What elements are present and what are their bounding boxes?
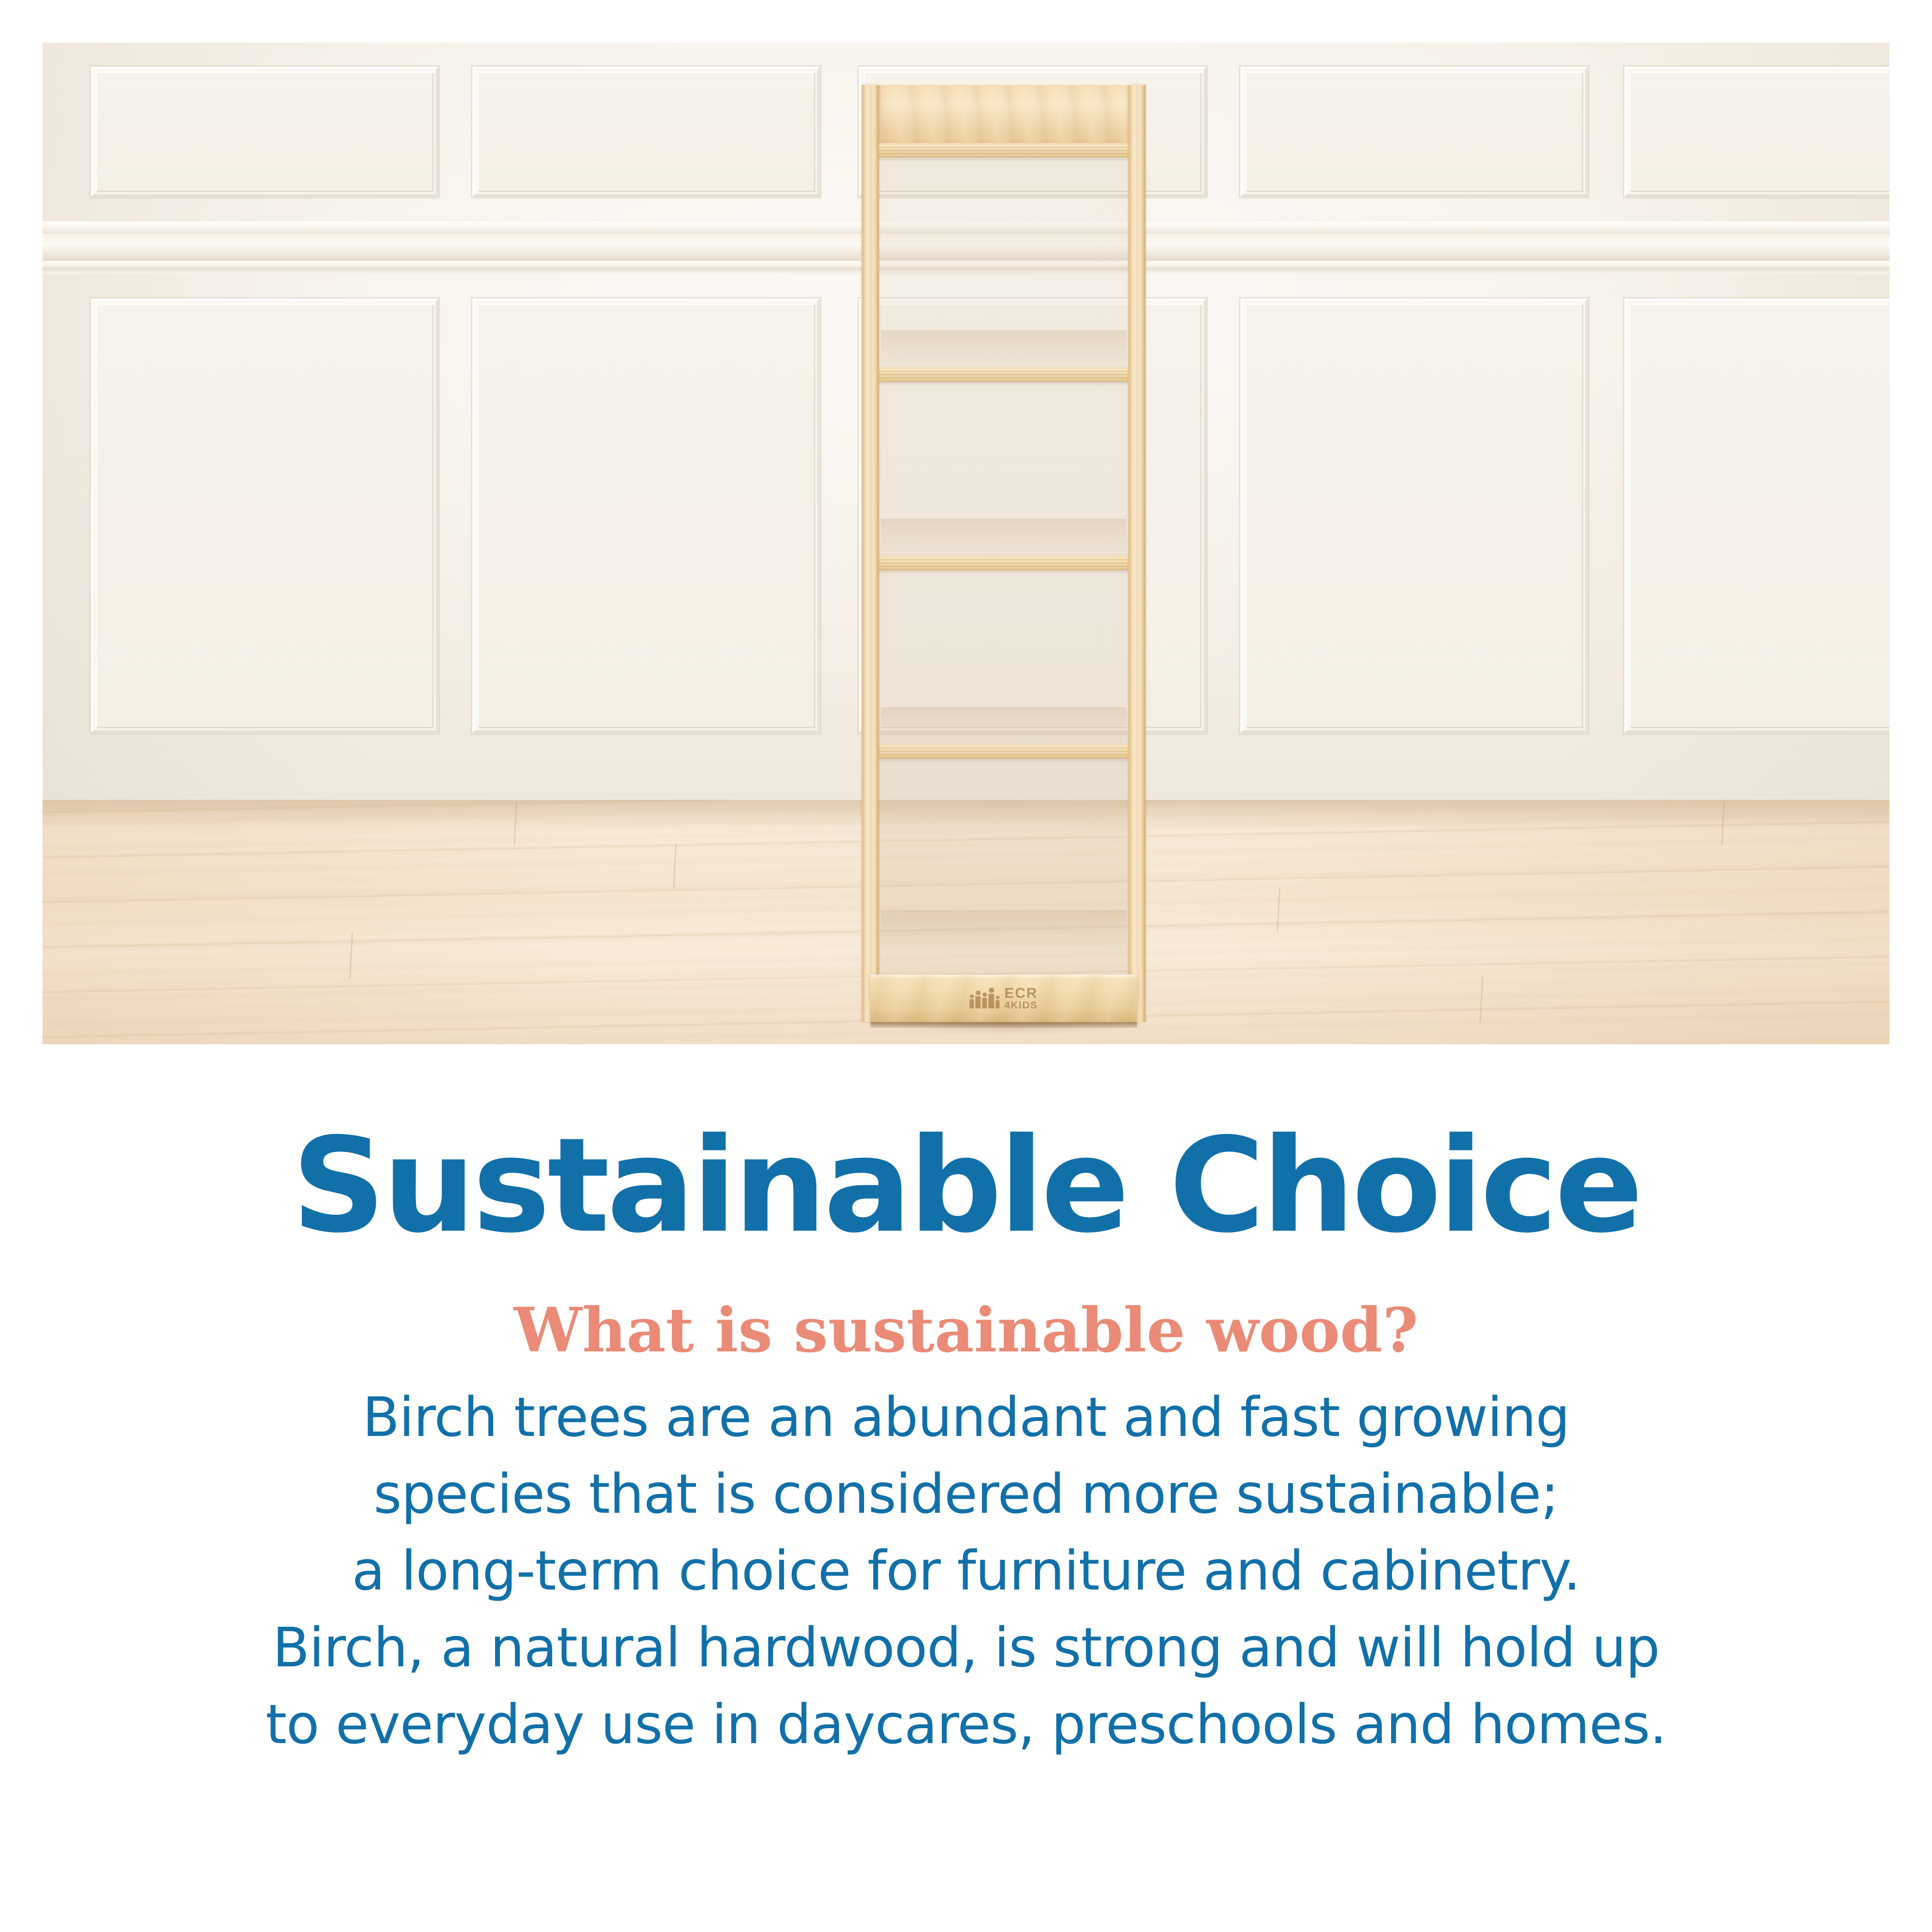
page-title: Sustainable Choice <box>0 1058 1932 1251</box>
shelf-side-panel-right <box>1128 85 1146 1022</box>
wood-grain-texture <box>1128 85 1146 1022</box>
body-line: a long-term choice for furniture and cab… <box>0 1533 1932 1610</box>
wall-panel <box>1245 303 1583 728</box>
shelf-board <box>870 555 1137 570</box>
shelf-surface <box>881 330 1126 368</box>
body-paragraph: Birch trees are an abundant and fast gro… <box>0 1362 1932 1763</box>
wall-panel <box>96 71 434 192</box>
body-line: species that is considered more sustaina… <box>0 1456 1932 1533</box>
shelf-board <box>870 143 1137 157</box>
ecr4kids-logo: ECR 4KIDS <box>969 987 1037 1010</box>
base-shadow-line <box>870 1022 1137 1028</box>
wall-panel <box>1245 71 1583 192</box>
logo-kids-text: 4KIDS <box>1004 1000 1037 1010</box>
text-content-block: Sustainable Choice What is sustainable w… <box>0 1058 1932 1763</box>
section-subheading: What is sustainable wood? <box>0 1251 1932 1362</box>
wall-panel <box>1629 303 1889 728</box>
logo-wordmark: ECR 4KIDS <box>1004 987 1037 1010</box>
body-line: Birch trees are an abundant and fast gro… <box>0 1379 1932 1456</box>
body-line: Birch, a natural hardwood, is strong and… <box>0 1610 1932 1687</box>
shelf-board <box>870 367 1137 382</box>
shelf-surface <box>881 707 1126 744</box>
shelf-surface <box>881 519 1126 556</box>
four-children-icon <box>969 988 999 1009</box>
shelf-board <box>870 744 1137 758</box>
wall-panel <box>1629 71 1889 192</box>
birch-shelving-unit: ECR 4KIDS <box>862 43 1146 1028</box>
wall-panel <box>477 303 815 728</box>
shelf-top-back-panel <box>879 85 1128 148</box>
body-line: to everyday use in daycares, preschools … <box>0 1687 1932 1763</box>
wall-panel <box>96 303 434 728</box>
shelf-surface <box>881 910 1126 947</box>
wood-grain-texture <box>862 85 879 1022</box>
shelf-base-kickboard: ECR 4KIDS <box>870 975 1137 1022</box>
logo-ecr-text: ECR <box>1004 987 1037 1001</box>
shelf-side-panel-left <box>862 85 879 1022</box>
product-photo: ECR 4KIDS <box>43 43 1889 1044</box>
wall-panel <box>477 71 815 192</box>
